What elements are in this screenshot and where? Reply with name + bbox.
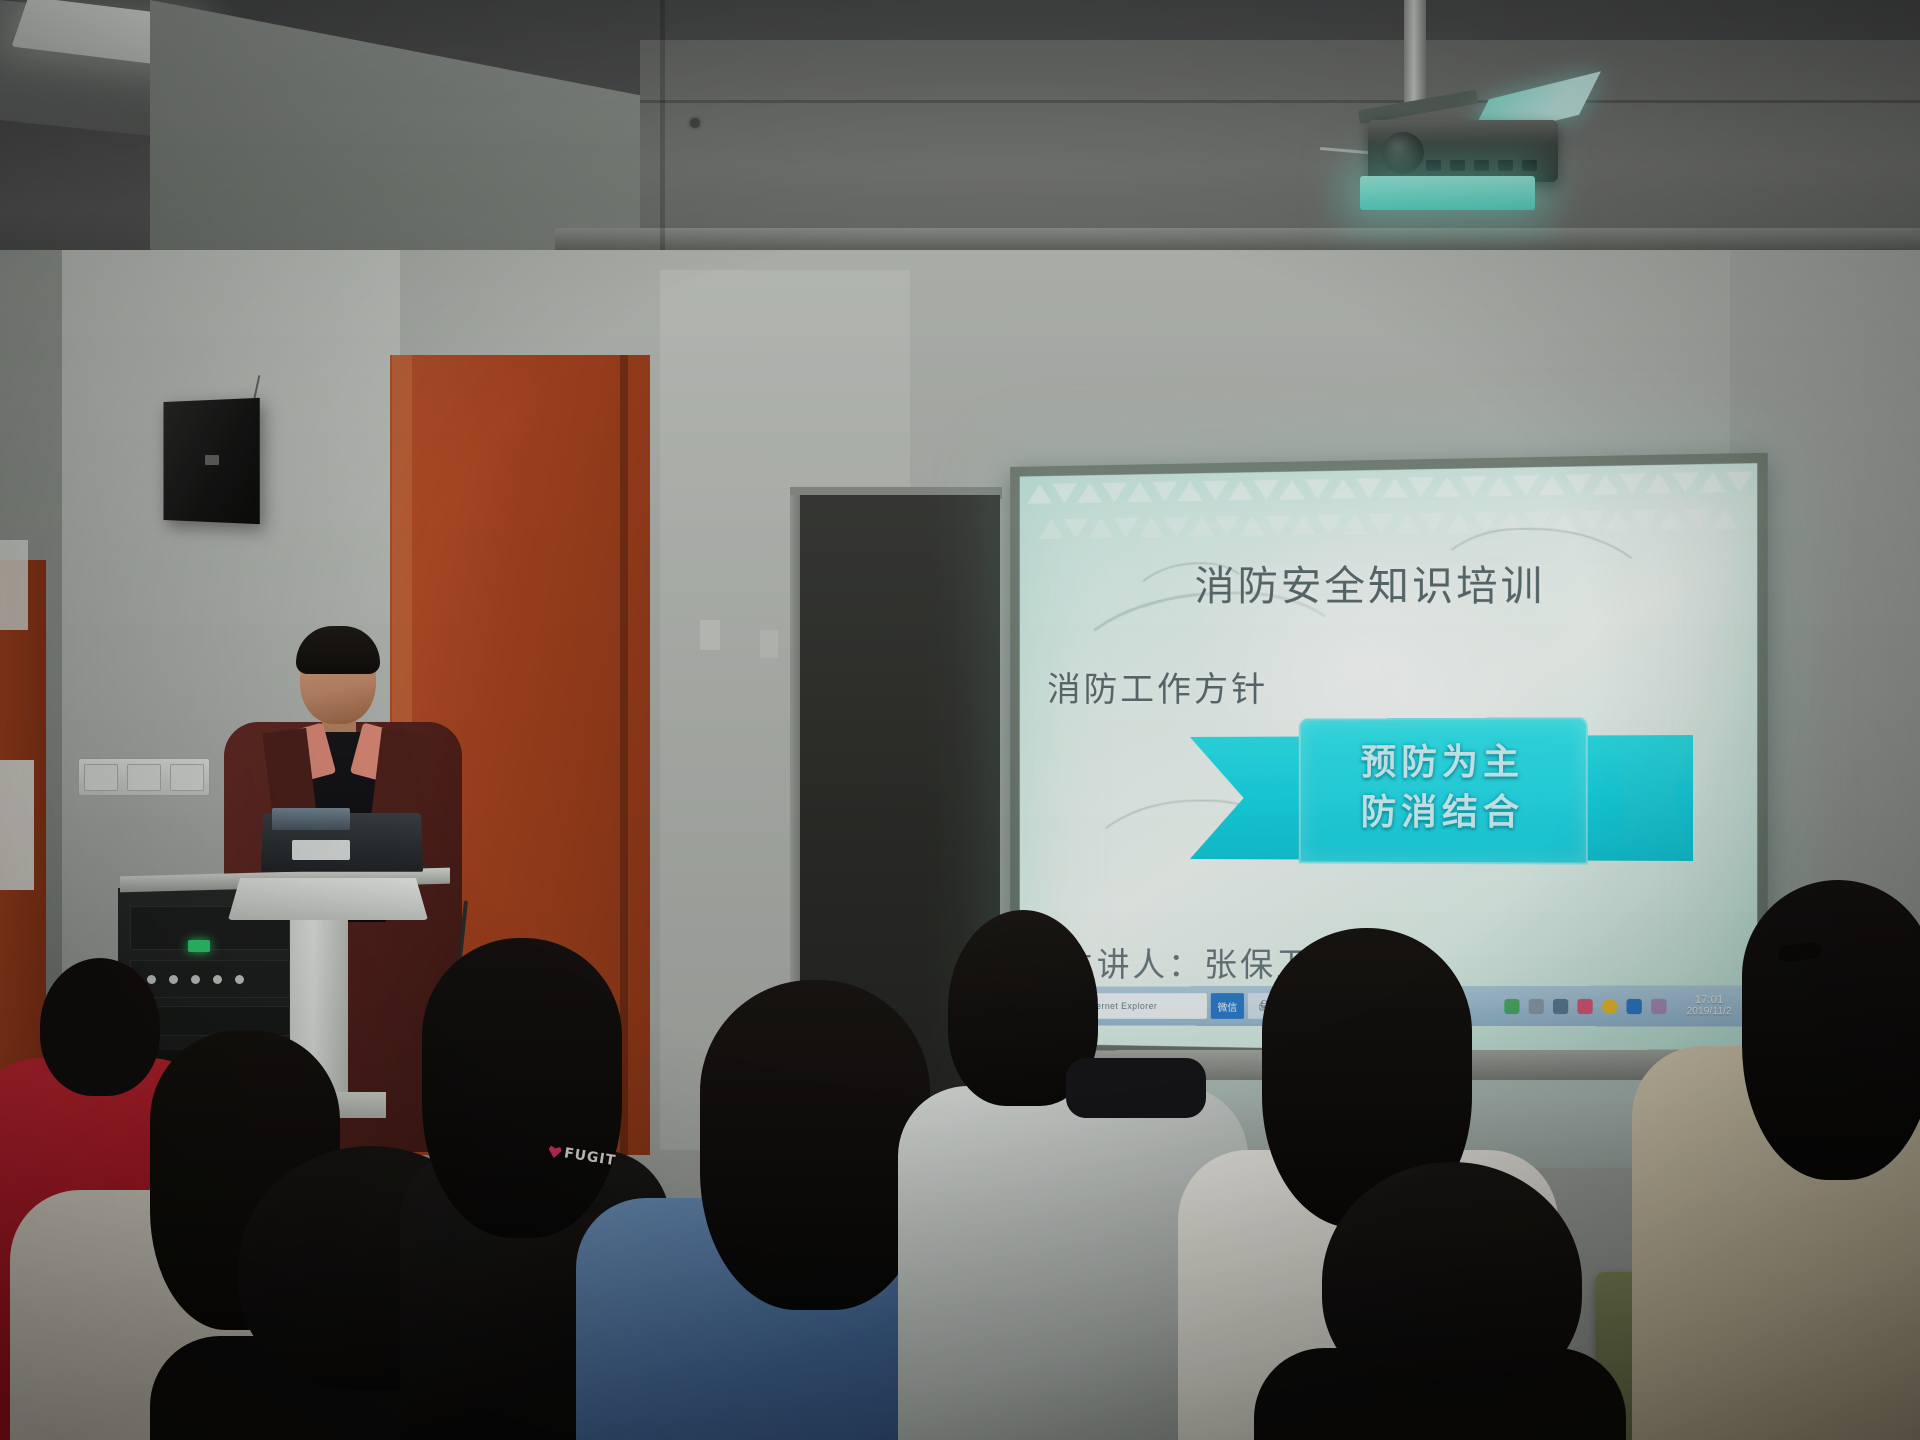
light-switch-panel[interactable] [78,758,210,796]
volume-icon[interactable] [1578,998,1593,1013]
rack-knob[interactable] [213,975,222,984]
audience-hair [422,938,622,1238]
slide-border-pattern-2 [1020,504,1758,545]
rack-knob[interactable] [191,975,200,984]
slide-border-pattern [1020,467,1758,510]
input-method-icon[interactable] [1627,998,1642,1013]
shield-icon[interactable] [1553,998,1568,1013]
battery-icon[interactable] [1505,998,1520,1013]
rack-knob[interactable] [147,975,156,984]
banner-line-1: 预防为主 [1307,737,1580,788]
projector-port [1522,160,1537,171]
taskbar-time: 17:01 [1686,994,1731,1006]
audience-hair [1742,880,1920,1180]
projector-port [1450,160,1465,171]
wall-notice [0,540,28,630]
network-icon[interactable] [1529,998,1544,1013]
projector-mount-pipe [1404,0,1426,112]
wall-notice [700,620,720,650]
projector-lens-icon [1382,132,1424,174]
audience-head [1322,1162,1582,1402]
photo-scene: 消防安全知识培训 消防工作方针 预防为主 防消结合 主讲人：张保卫 e Inte… [0,0,1920,1440]
taskbar-date: 2019/11/2 [1686,1006,1731,1018]
speaker-logo [205,455,219,465]
rack-power-led [188,940,210,952]
wall-notice [760,630,778,658]
light-switch-key[interactable] [127,764,161,791]
audience-hair [700,980,930,1310]
slide-presenter-line: 主讲人：张保卫 [1061,938,1312,986]
taskbar-button-wechat[interactable]: 微信 [1211,993,1244,1019]
taskbar-tray[interactable]: 17:01 2019/11/2 [1505,994,1736,1019]
cloud-icon[interactable] [1651,998,1666,1013]
soffit-shadow-line [640,100,1920,103]
light-switch-key[interactable] [170,764,204,791]
banner-text: 预防为主 防消结合 [1307,737,1580,838]
heart-icon [547,1144,562,1159]
slide-title: 消防安全知识培训 [1161,552,1579,613]
projector-beam-glow [1360,176,1535,210]
sync-icon[interactable] [1602,998,1617,1013]
projector-port [1474,160,1489,171]
lectern-top [228,878,428,920]
taskbar-clock[interactable]: 17:01 2019/11/2 [1686,994,1731,1019]
light-switch-key[interactable] [84,764,118,791]
banner-line-2: 防消结合 [1307,788,1580,838]
slide-banner: 预防为主 防消结合 [1190,717,1693,880]
hoodie-collar [1066,1058,1206,1118]
laptop-label-tag [292,840,350,860]
wall-notice [0,760,34,890]
projector-port [1498,160,1513,171]
audience-head [40,958,160,1096]
rack-knob[interactable] [169,975,178,984]
laptop-screen [272,808,350,830]
slide-subtitle: 消防工作方针 [1047,662,1268,711]
projector-port [1426,160,1441,171]
soffit-lip [555,228,1920,250]
ceiling-fixture-screw [690,118,700,128]
ceiling-seam [660,0,665,250]
